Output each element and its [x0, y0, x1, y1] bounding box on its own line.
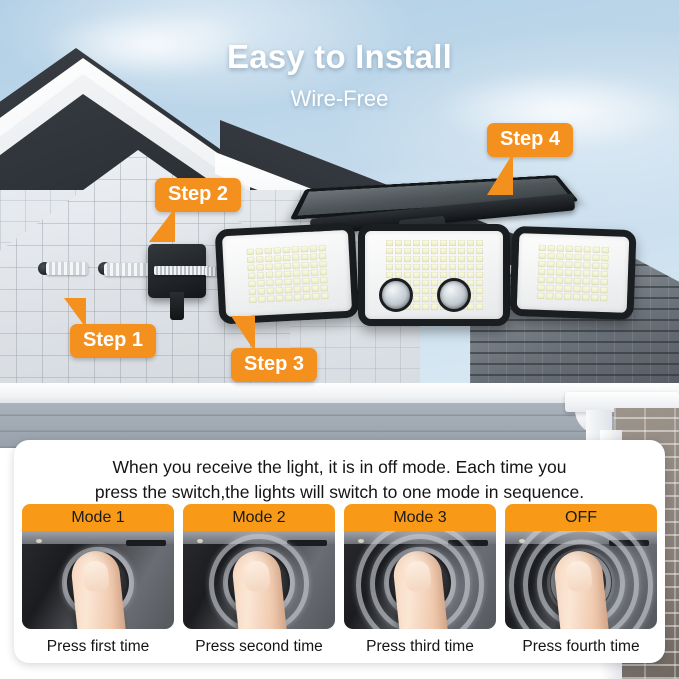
led-chip: [293, 286, 300, 292]
led-chip: [311, 277, 318, 283]
led-chip: [556, 277, 563, 283]
mode-card-title: Mode 2: [183, 504, 335, 531]
led-chip: [256, 272, 263, 278]
led-chip: [413, 288, 420, 294]
led-chip: [537, 293, 544, 299]
led-chip: [267, 295, 274, 301]
led-panel-center: [358, 224, 510, 326]
wall-anchor: [46, 262, 88, 275]
led-chip: [265, 255, 272, 261]
led-chip: [264, 247, 271, 253]
led-chip: [284, 278, 291, 284]
led-chip: [476, 304, 483, 310]
led-chip: [258, 296, 265, 302]
led-chip: [413, 256, 420, 262]
mode-card-image: [183, 531, 335, 629]
step-badge-label: Step 3: [244, 353, 304, 375]
led-chip: [547, 277, 554, 283]
led-chip: [247, 264, 254, 270]
led-chip: [467, 240, 474, 246]
led-chip: [600, 287, 607, 293]
mode-card-title: Mode 3: [344, 504, 496, 531]
led-chip: [601, 263, 608, 269]
led-chip: [546, 293, 553, 299]
led-chip: [449, 264, 456, 270]
led-chip: [248, 288, 255, 294]
mode-card-image: [505, 531, 657, 629]
led-chip: [583, 278, 590, 284]
led-panel-left: [215, 222, 360, 324]
housing-highlight: [358, 539, 364, 543]
led-chip: [565, 262, 572, 268]
led-chip: [292, 270, 299, 276]
led-chip: [573, 286, 580, 292]
led-chip: [556, 253, 563, 259]
step-badge-label: Step 2: [168, 183, 228, 205]
led-chip: [440, 264, 447, 270]
led-chip: [601, 255, 608, 261]
led-chip: [265, 263, 272, 269]
led-chip: [282, 246, 289, 252]
led-chip: [537, 285, 544, 291]
led-chip: [574, 262, 581, 268]
led-chip: [583, 270, 590, 276]
led-chip: [467, 272, 474, 278]
led-chip: [584, 246, 591, 252]
led-chip: [574, 270, 581, 276]
led-chip: [476, 264, 483, 270]
led-chip: [386, 256, 393, 262]
led-panel-right: [509, 226, 636, 320]
led-chip: [301, 269, 308, 275]
mode-card: Mode 1 Press first time: [22, 504, 174, 656]
mode-card-image: [344, 531, 496, 629]
led-chip: [291, 254, 298, 260]
led-chip: [275, 287, 282, 293]
led-chip: [276, 295, 283, 301]
led-chip: [449, 248, 456, 254]
callout-tail: [141, 208, 175, 242]
led-chip: [440, 256, 447, 262]
led-chip: [309, 253, 316, 259]
led-chip: [266, 279, 273, 285]
led-chip: [467, 248, 474, 254]
led-chip: [275, 279, 282, 285]
led-chip: [320, 276, 327, 282]
motion-sensor-icon: [437, 278, 471, 312]
led-chip: [249, 296, 256, 302]
led-chip: [283, 254, 290, 260]
led-chip: [422, 304, 429, 310]
led-chip: [404, 256, 411, 262]
led-chip: [458, 264, 465, 270]
led-chip: [582, 286, 589, 292]
led-chip: [564, 294, 571, 300]
led-array: [524, 240, 622, 305]
led-chip: [283, 270, 290, 276]
led-chip: [404, 264, 411, 270]
led-chip: [601, 271, 608, 277]
led-chip: [318, 252, 325, 258]
led-chip: [386, 240, 393, 246]
mode-card-caption: Press first time: [22, 629, 174, 656]
led-chip: [555, 293, 562, 299]
led-chip: [458, 256, 465, 262]
callout-tail: [221, 316, 255, 352]
solar-light-fixture: [215, 170, 635, 335]
led-chip: [556, 269, 563, 275]
led-chip: [413, 304, 420, 310]
mode-card-caption: Press second time: [183, 629, 335, 656]
led-chip: [274, 255, 281, 261]
led-chip: [246, 248, 253, 254]
instruction-text: When you receive the light, it is in off…: [14, 440, 665, 504]
led-chip: [431, 280, 438, 286]
led-chip: [247, 272, 254, 278]
led-chip: [440, 240, 447, 246]
led-chip: [300, 245, 307, 251]
led-chip: [431, 264, 438, 270]
led-chip: [458, 240, 465, 246]
led-chip: [565, 278, 572, 284]
led-chip: [422, 296, 429, 302]
led-chip: [564, 286, 571, 292]
led-chip: [583, 262, 590, 268]
mode-card: OFF Press fourth time: [505, 504, 657, 656]
fingernail: [565, 560, 593, 592]
led-chip: [538, 277, 545, 283]
led-chip: [248, 280, 255, 286]
led-chip: [582, 294, 589, 300]
led-chip: [547, 253, 554, 259]
led-chip: [592, 271, 599, 277]
led-chip: [310, 261, 317, 267]
step-badge-2: Step 2: [155, 178, 241, 212]
led-chip: [440, 272, 447, 278]
step-badge-3: Step 3: [231, 348, 317, 382]
housing-highlight: [197, 539, 203, 543]
led-chip: [386, 272, 393, 278]
led-chip: [476, 248, 483, 254]
mode-instruction-panel: When you receive the light, it is in off…: [14, 440, 665, 663]
led-chip: [467, 256, 474, 262]
led-chip: [547, 261, 554, 267]
led-chip: [458, 248, 465, 254]
led-chip: [591, 295, 598, 301]
led-chip: [309, 245, 316, 251]
led-chip: [283, 262, 290, 268]
led-chip: [592, 279, 599, 285]
mode-card: Mode 2 Press second time: [183, 504, 335, 656]
page-title: Easy to Install: [0, 38, 679, 76]
led-chip: [320, 284, 327, 290]
led-chip: [574, 254, 581, 260]
led-chip: [431, 272, 438, 278]
led-chip: [449, 240, 456, 246]
led-chip: [557, 245, 564, 251]
led-chip: [566, 246, 573, 252]
led-chip: [274, 271, 281, 277]
led-chip: [422, 280, 429, 286]
fingernail: [82, 560, 110, 592]
led-chip: [413, 280, 420, 286]
led-chip: [318, 244, 325, 250]
fingernail: [243, 560, 271, 592]
led-chip: [395, 248, 402, 254]
led-chip: [548, 245, 555, 251]
led-chip: [546, 285, 553, 291]
led-chip: [321, 292, 328, 298]
mode-card-image: [22, 531, 174, 629]
mode-card: Mode 3 Press third time: [344, 504, 496, 656]
led-chip: [422, 288, 429, 294]
led-chip: [291, 246, 298, 252]
led-chip: [565, 270, 572, 276]
led-chip: [256, 256, 263, 262]
led-chip: [311, 285, 318, 291]
led-chip: [413, 264, 420, 270]
mounting-screw: [154, 266, 212, 275]
led-chip: [431, 248, 438, 254]
led-chip: [255, 248, 262, 254]
led-chip: [273, 247, 280, 253]
led-chip: [404, 240, 411, 246]
led-chip: [301, 261, 308, 267]
led-chip: [395, 256, 402, 262]
led-chip: [538, 261, 545, 267]
led-chip: [555, 285, 562, 291]
led-chip: [257, 280, 264, 286]
mode-card-title: Mode 1: [22, 504, 174, 531]
led-chip: [386, 264, 393, 270]
led-chip: [404, 272, 411, 278]
led-chip: [601, 279, 608, 285]
led-chip: [467, 264, 474, 270]
led-chip: [440, 248, 447, 254]
housing-lip: [126, 540, 166, 546]
led-chip: [593, 247, 600, 253]
mode-card-title: OFF: [505, 504, 657, 531]
led-chip: [583, 254, 590, 260]
instruction-line-2: press the switch,the lights will switch …: [44, 480, 635, 505]
led-chip: [413, 240, 420, 246]
led-chip: [565, 254, 572, 260]
led-chip: [476, 288, 483, 294]
motion-sensor-icon: [379, 278, 413, 312]
led-chip: [302, 277, 309, 283]
housing-highlight: [36, 539, 42, 543]
led-chip: [300, 253, 307, 259]
led-chip: [422, 240, 429, 246]
led-chip: [539, 245, 546, 251]
led-chip: [413, 248, 420, 254]
led-chip: [476, 240, 483, 246]
led-chip: [538, 253, 545, 259]
led-chip: [458, 272, 465, 278]
led-chip: [319, 260, 326, 266]
led-chip: [274, 263, 281, 269]
led-chip: [591, 287, 598, 293]
led-chip: [573, 294, 580, 300]
led-chip: [266, 287, 273, 293]
led-chip: [422, 264, 429, 270]
led-chip: [431, 304, 438, 310]
step-badge-label: Step 4: [500, 128, 560, 150]
led-chip: [265, 271, 272, 277]
led-chip: [422, 248, 429, 254]
mode-card-caption: Press fourth time: [505, 629, 657, 656]
led-chip: [284, 286, 291, 292]
led-chip: [395, 240, 402, 246]
step-badge-1: Step 1: [70, 324, 156, 358]
product-infographic: Easy to Install Wire-Free Step 1 Step 2 …: [0, 0, 679, 679]
led-chip: [413, 296, 420, 302]
led-chip: [538, 269, 545, 275]
led-chip: [310, 269, 317, 275]
led-chip: [413, 272, 420, 278]
led-chip: [592, 255, 599, 261]
mode-card-list: Mode 1 Press first time Mode 2: [14, 504, 665, 656]
led-chip: [422, 272, 429, 278]
led-chip: [292, 262, 299, 268]
led-chip: [476, 280, 483, 286]
led-array: [229, 237, 344, 310]
wall-anchor: [104, 263, 150, 276]
step-badge-4: Step 4: [487, 123, 573, 157]
led-chip: [256, 264, 263, 270]
callout-tail: [52, 298, 86, 328]
led-chip: [592, 263, 599, 269]
led-chip: [449, 256, 456, 262]
led-chip: [312, 293, 319, 299]
mode-card-caption: Press third time: [344, 629, 496, 656]
led-chip: [556, 261, 563, 267]
led-chip: [476, 272, 483, 278]
led-chip: [600, 295, 607, 301]
led-chip: [574, 278, 581, 284]
led-chip: [293, 278, 300, 284]
led-chip: [431, 256, 438, 262]
step-badge-label: Step 1: [83, 329, 143, 351]
led-chip: [422, 256, 429, 262]
led-chip: [395, 264, 402, 270]
led-chip: [294, 294, 301, 300]
led-chip: [602, 247, 609, 253]
led-chip: [404, 248, 411, 254]
fingernail: [404, 560, 432, 592]
led-chip: [575, 246, 582, 252]
led-chip: [476, 256, 483, 262]
led-chip: [476, 296, 483, 302]
page-subtitle: Wire-Free: [0, 86, 679, 112]
housing-lip: [287, 540, 327, 546]
led-chip: [257, 288, 264, 294]
instruction-line-1: When you receive the light, it is in off…: [44, 455, 635, 480]
bracket-tab: [170, 292, 184, 320]
led-chip: [285, 294, 292, 300]
led-chip: [247, 256, 254, 262]
led-chip: [302, 285, 309, 291]
led-chip: [319, 268, 326, 274]
led-chip: [386, 248, 393, 254]
led-chip: [303, 293, 310, 299]
callout-tail: [481, 153, 513, 195]
led-chip: [431, 240, 438, 246]
led-chip: [547, 269, 554, 275]
